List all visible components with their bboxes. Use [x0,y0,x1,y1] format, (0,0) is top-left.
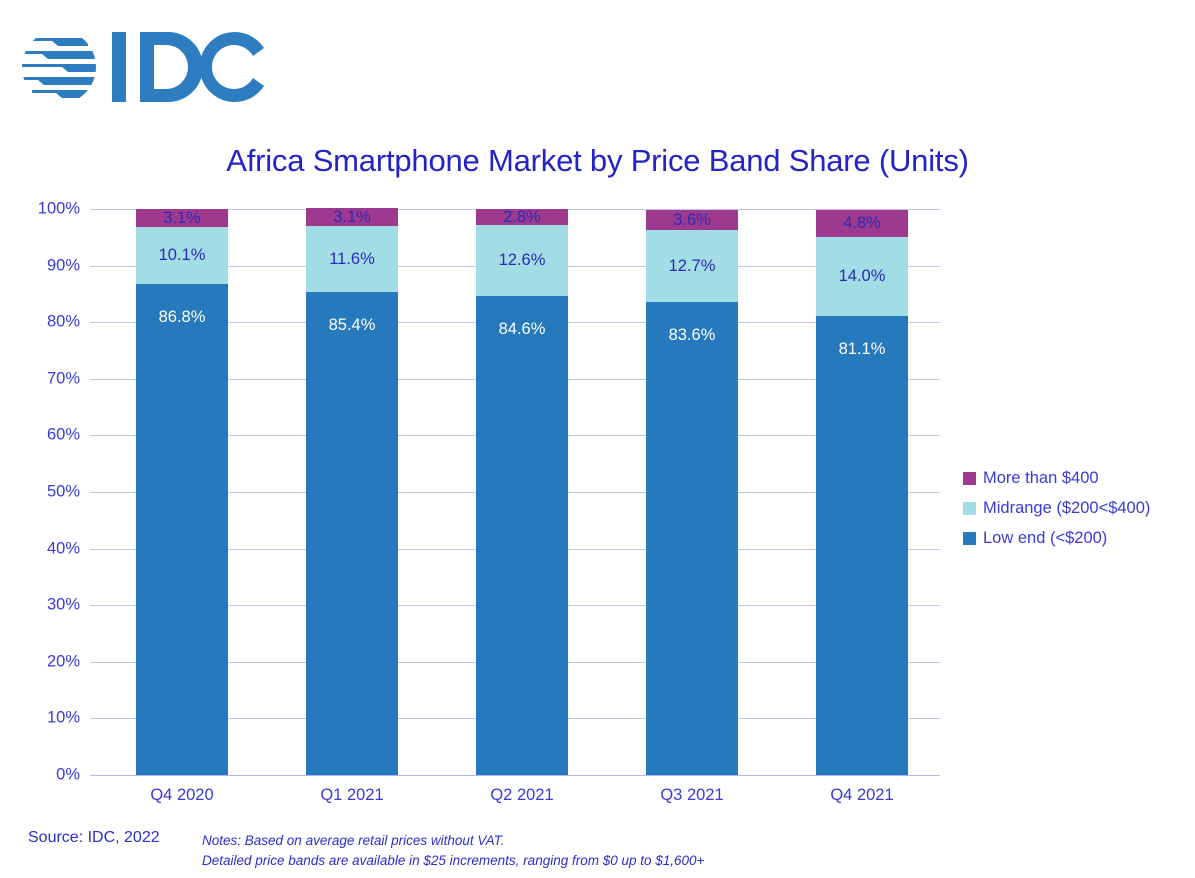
bar-segment[interactable]: 3.1% [136,209,228,227]
legend-item[interactable]: Low end (<$200) [963,523,1193,553]
y-axis-tick: 30% [8,596,80,615]
bar-value-label: 3.1% [163,210,201,227]
bar-segment[interactable]: 81.1% [816,316,908,775]
x-axis-tick: Q4 2021 [782,786,942,805]
bar-value-label: 86.8% [159,309,206,326]
legend-item[interactable]: Midrange ($200<$400) [963,493,1193,523]
legend-swatch-low [963,532,976,545]
legend-swatch-high [963,472,976,485]
bar-value-label: 11.6% [329,251,375,268]
bar-value-label: 2.8% [503,209,541,226]
bar-segment[interactable]: 84.6% [476,296,568,775]
bar-value-label: 14.0% [839,268,886,285]
x-axis-tick: Q2 2021 [442,786,602,805]
bar-segment[interactable]: 4.8% [816,210,908,237]
y-axis-tick: 10% [8,709,80,728]
y-axis-tick: 0% [8,766,80,785]
x-axis-tick: Q4 2020 [102,786,262,805]
y-axis-tick: 90% [8,256,80,275]
y-axis-tick: 40% [8,539,80,558]
bar-value-label: 3.1% [333,209,371,226]
legend-item[interactable]: More than $400 [963,463,1193,493]
chart-legend: More than $400 Midrange ($200<$400) Low … [963,463,1193,553]
bar-column[interactable]: 84.6%12.6%2.8% [476,209,568,775]
notes-line-1: Notes: Based on average retail prices wi… [202,831,704,851]
bar-segment[interactable]: 12.7% [646,230,738,302]
bar-column[interactable]: 85.4%11.6%3.1% [306,209,398,775]
bar-segment[interactable]: 11.6% [306,226,398,292]
chart-plot: 86.8%10.1%3.1%85.4%11.6%3.1%84.6%12.6%2.… [0,0,1195,878]
x-axis-tick: Q1 2021 [272,786,432,805]
bar-value-label: 12.7% [669,258,716,275]
plot-area: 86.8%10.1%3.1%85.4%11.6%3.1%84.6%12.6%2.… [90,209,940,775]
legend-label-high: More than $400 [983,469,1099,488]
bar-value-label: 83.6% [669,327,716,344]
legend-label-low: Low end (<$200) [983,529,1107,548]
bar-segment[interactable]: 86.8% [136,284,228,775]
bar-segment[interactable]: 14.0% [816,237,908,316]
y-axis-tick: 80% [8,313,80,332]
bar-value-label: 84.6% [499,321,546,338]
bar-value-label: 85.4% [329,317,376,334]
gridline [90,775,940,776]
y-axis-tick: 50% [8,483,80,502]
legend-swatch-mid [963,502,976,515]
bar-segment[interactable]: 3.6% [646,210,738,230]
bar-column[interactable]: 83.6%12.7%3.6% [646,209,738,775]
bar-value-label: 10.1% [159,247,206,264]
notes-line-2: Detailed price bands are available in $2… [202,851,704,871]
source-text: Source: IDC, 2022 [28,829,160,847]
legend-label-mid: Midrange ($200<$400) [983,499,1150,518]
x-axis-tick: Q3 2021 [612,786,772,805]
y-axis-tick: 70% [8,369,80,388]
bar-segment[interactable]: 83.6% [646,302,738,775]
bar-value-label: 4.8% [843,215,881,232]
bar-segment[interactable]: 3.1% [306,208,398,226]
y-axis-tick: 60% [8,426,80,445]
bar-column[interactable]: 81.1%14.0%4.8% [816,209,908,775]
bar-value-label: 3.6% [673,212,711,229]
notes-text: Notes: Based on average retail prices wi… [202,831,704,870]
bar-segment[interactable]: 12.6% [476,225,568,296]
bar-segment[interactable]: 10.1% [136,227,228,284]
bar-segment[interactable]: 85.4% [306,292,398,775]
bar-column[interactable]: 86.8%10.1%3.1% [136,209,228,775]
y-axis-tick: 100% [8,200,80,219]
bar-value-label: 81.1% [839,341,886,358]
y-axis-tick: 20% [8,652,80,671]
bar-segment[interactable]: 2.8% [476,209,568,225]
bar-value-label: 12.6% [499,252,546,269]
